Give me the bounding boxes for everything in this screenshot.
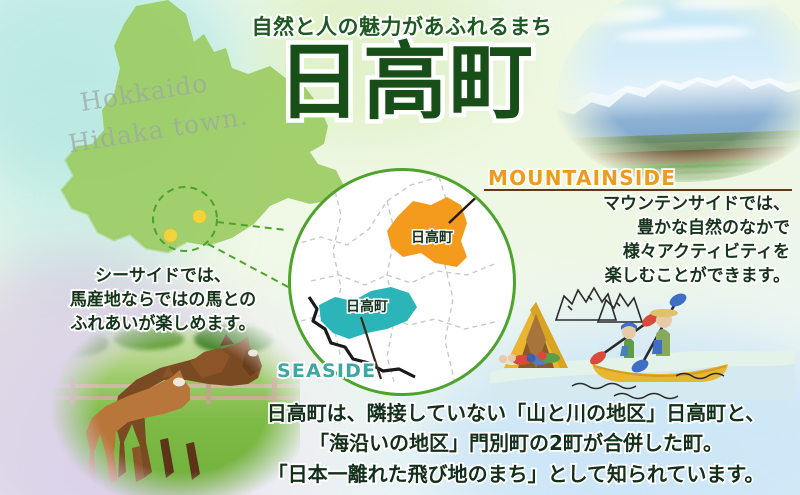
- region-label-seaside: 日高町: [346, 296, 388, 316]
- mountainside-line: 様々アクティビティを: [500, 240, 790, 264]
- mountainside-divider: [484, 189, 792, 191]
- footer-line: 「海沿いの地区」門別町の2町が合併した町。: [236, 428, 796, 458]
- poster-canvas: 日高町 日高町: [0, 0, 800, 495]
- outdoor-activity-illustration: [490, 280, 795, 400]
- camping-tent-illustration: [499, 302, 568, 368]
- region-label-mountain: 日高町: [411, 227, 453, 247]
- mountainside-line: 豊かな自然のなかで: [500, 216, 790, 240]
- mountainside-label: MOUNTAINSIDE: [488, 166, 676, 190]
- footer-line: 「日本一離れた飛び地のまち」として知られています。: [236, 459, 796, 489]
- location-dot-icon: [193, 210, 206, 223]
- mountainside-description: マウンテンサイドでは、 豊かな自然のなかで 様々アクティビティを 楽しむことがで…: [500, 192, 790, 289]
- footer-line: 日高町は、隣接していない「山と川の地区」日高町と、: [236, 398, 796, 428]
- page-title: 日高町: [236, 40, 576, 124]
- mountain-photo: [553, 0, 800, 187]
- seaside-line: 馬産地ならではの馬との: [28, 289, 298, 313]
- footer-description: 日高町は、隣接していない「山と川の地区」日高町と、 「海沿いの地区」門別町の2町…: [236, 398, 796, 489]
- seaside-line: ふれあいが楽しめます。: [28, 313, 298, 337]
- seaside-description: シーサイドでは、 馬産地ならではの馬との ふれあいが楽しめます。: [28, 265, 298, 336]
- seaside-line: シーサイドでは、: [28, 265, 298, 289]
- seaside-label: SEASIDE: [277, 360, 376, 382]
- mountainside-line: マウンテンサイドでは、: [500, 192, 790, 216]
- mountainside-line: 楽しむことができます。: [500, 264, 790, 288]
- location-dot-icon: [164, 229, 177, 242]
